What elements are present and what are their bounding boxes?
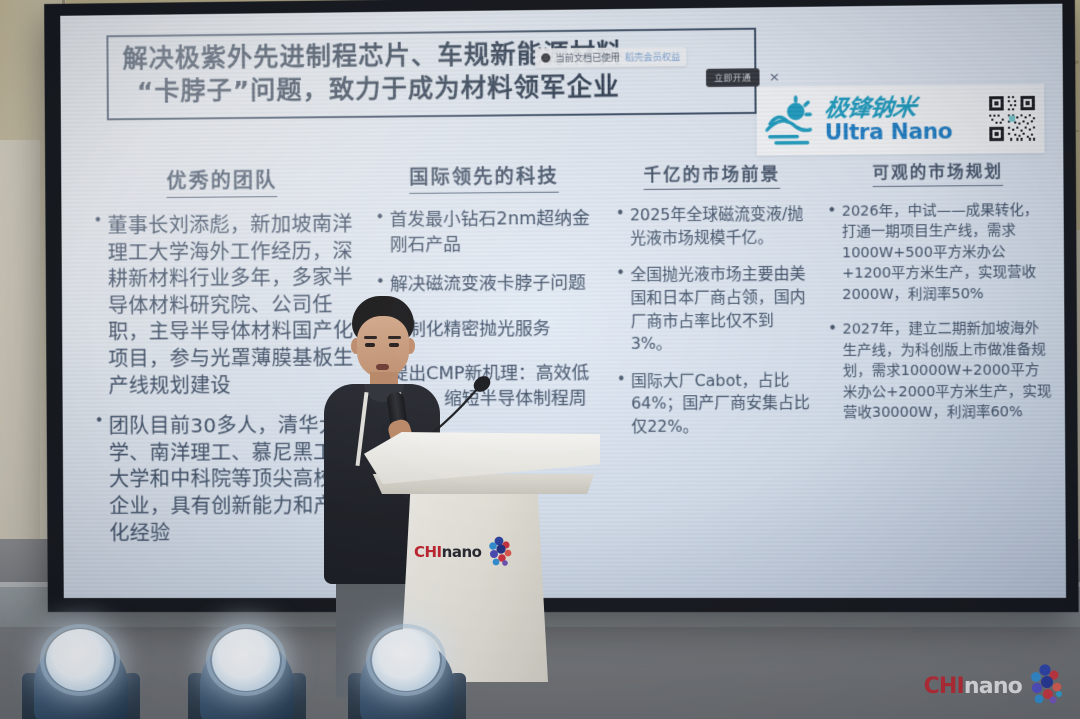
bullet-item: 2025年全球磁流变液/抛光液市场规模千亿。 — [630, 203, 813, 250]
column-bullets-market: 2025年全球磁流变液/抛光液市场规模千亿。 全国抛光液市场主要由美国和日本厂商… — [612, 203, 815, 439]
company-name-en: Ultra Nano — [825, 121, 980, 144]
molecule-cluster-icon — [485, 535, 515, 569]
stage-light-lens — [372, 629, 440, 691]
speaker-mouth — [376, 364, 389, 370]
slide-title-line-2: “卡脖子”问题，致力于成为材料领军企业 — [123, 69, 740, 108]
speaker-eye-right — [389, 343, 399, 347]
notification-message: 当前文档已使用 — [555, 51, 619, 65]
column-bullets-plan: 2026年，中试——成果转化，打通一期项目生产线，需求1000W+500平方米办… — [825, 200, 1052, 424]
column-heading-plan: 可观的市场规划 — [872, 157, 1003, 187]
notification-dot-icon — [541, 53, 550, 62]
sunrise-logo-icon — [764, 94, 818, 147]
bullet-item: 首发最小钻石2nm超纳金刚石产品 — [390, 207, 600, 259]
close-icon[interactable]: × — [769, 71, 780, 84]
podium-logo: CHInano — [414, 532, 534, 572]
chinano-watermark: CHInano — [924, 663, 1066, 709]
watermark-text: CHInano — [924, 674, 1022, 699]
watermark-prefix: CHI — [924, 674, 964, 699]
slide-column-market: 千亿的市场前景 2025年全球磁流变液/抛光液市场规模千亿。 全国抛光液市场主要… — [605, 159, 821, 598]
bullet-item: 国际大厂Cabot，占比64%；国产厂商安集占比仅22%。 — [631, 369, 814, 439]
column-heading-market: 千亿的市场前景 — [644, 159, 781, 190]
bullet-item: 2027年，建立二期新加坡海外生产线，为科创版上市做准备规划，需求10000W+… — [842, 318, 1052, 423]
document-notification-toast: 当前文档已使用 稻壳会员权益 — [535, 47, 687, 68]
qr-code-icon — [987, 94, 1037, 143]
slide-column-plan: 可观的市场规划 2026年，中试——成果转化，打通一期项目生产线，需求1000W… — [819, 157, 1060, 598]
company-name-group: 极锋钠米 Ultra Nano — [825, 95, 981, 143]
podium-logo-prefix: CHI — [414, 543, 442, 561]
notification-actions: 立即开通 × — [706, 68, 780, 87]
stage-light-lens — [212, 629, 280, 691]
stage-light-lens — [46, 629, 114, 691]
podium-logo-suffix: nano — [442, 543, 482, 561]
stage-light — [188, 621, 306, 719]
notification-link[interactable]: 稻壳会员权益 — [625, 50, 680, 64]
speaker-eyebrow-right — [388, 336, 401, 339]
conference-photo-scene: 解决极紫外先进制程芯片、车规新能源材料 “卡脖子”问题，致力于成为材料领军企业 — [0, 0, 1080, 719]
watermark-suffix: nano — [964, 674, 1022, 699]
bullet-item: 解决磁流变液卡脖子问题 — [390, 271, 600, 297]
watermark-molecule-icon — [1026, 663, 1066, 709]
podium-logo-text: CHInano — [414, 543, 481, 561]
bullet-item: 全国抛光液市场主要由美国和日本厂商占领，国内厂商市占率比仅不到3%。 — [630, 263, 813, 356]
company-name-cn: 极锋钠米 — [823, 95, 981, 120]
company-logo-block: 极锋钠米 Ultra Nano — [756, 84, 1044, 156]
column-heading-team: 优秀的团队 — [166, 164, 277, 198]
column-heading-technology: 国际领先的科技 — [409, 161, 559, 194]
speaker-eye-left — [365, 343, 375, 347]
bullet-item: 2026年，中试——成果转化，打通一期项目生产线，需求1000W+500平方米办… — [842, 200, 1052, 306]
slide-title-box: 解决极紫外先进制程芯片、车规新能源材料 “卡脖子”问题，致力于成为材料领军企业 — [106, 28, 756, 121]
stage-light — [348, 621, 466, 719]
speaker-eyebrow-left — [364, 336, 377, 339]
stage-light — [22, 621, 140, 719]
activate-now-button[interactable]: 立即开通 — [706, 68, 760, 87]
